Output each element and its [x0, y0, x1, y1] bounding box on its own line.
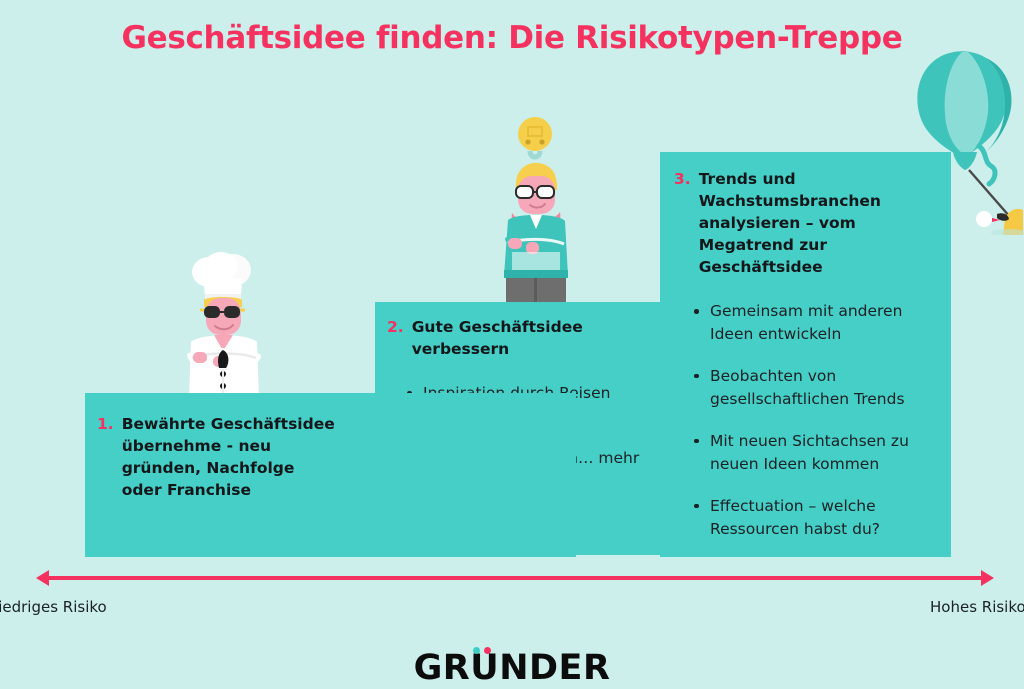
arrow-right-icon [981, 570, 994, 586]
logo-umlaut-u: U [470, 648, 499, 688]
step-3-number: 3. [674, 168, 691, 190]
risk-axis [36, 570, 994, 586]
step-block-1: 1. Bewährte Geschäftsidee übernehme - ne… [85, 393, 576, 557]
step-2-heading: Gute Geschäftsidee verbessern [412, 316, 644, 360]
step-3-heading: Trends und Wachstumsbranchen analysieren… [699, 168, 937, 278]
step-3-bullet-list: Gemeinsam mit anderen Ideen entwickeln B… [674, 300, 937, 541]
page-title: Geschäftsidee finden: Die Risikotypen-Tr… [0, 20, 1024, 56]
list-item: Gemeinsam mit anderen Ideen entwickeln [694, 300, 937, 346]
step-2-heading-row: 2. Gute Geschäftsidee verbessern [387, 316, 644, 360]
step-1-number: 1. [97, 413, 114, 435]
chef-character-illustration [157, 250, 297, 400]
list-item: Mit neuen Sichtachsen zu neuen Ideen kom… [694, 430, 937, 476]
axis-label-high-risk: Hohes Risiko [930, 598, 1024, 616]
list-item: Beobachten von gesellschaftlichen Trends [694, 365, 937, 411]
step-3-heading-row: 3. Trends und Wachstumsbranchen analysie… [674, 168, 937, 278]
axis-label-low-risk: Niedriges Risiko [0, 598, 107, 616]
step-2-number: 2. [387, 316, 404, 338]
step-1-heading: Bewährte Geschäftsidee übernehme - neu g… [122, 413, 337, 501]
axis-line [44, 576, 986, 580]
person-with-lightbulb-illustration [478, 112, 593, 307]
list-item: Effectuation – welche Ressourcen habst d… [694, 495, 937, 541]
logo-text-part3: NDER [499, 648, 610, 688]
logo-text-part1: GR [414, 648, 471, 688]
step-block-3: 3. Trends und Wachstumsbranchen analysie… [660, 152, 951, 557]
infographic-canvas: Geschäftsidee finden: Die Risikotypen-Tr… [0, 0, 1024, 689]
gruender-logo: GRUNDER [0, 648, 1024, 688]
logo-text-part2: U [470, 648, 499, 688]
step-1-heading-row: 1. Bewährte Geschäftsidee übernehme - ne… [97, 413, 558, 501]
